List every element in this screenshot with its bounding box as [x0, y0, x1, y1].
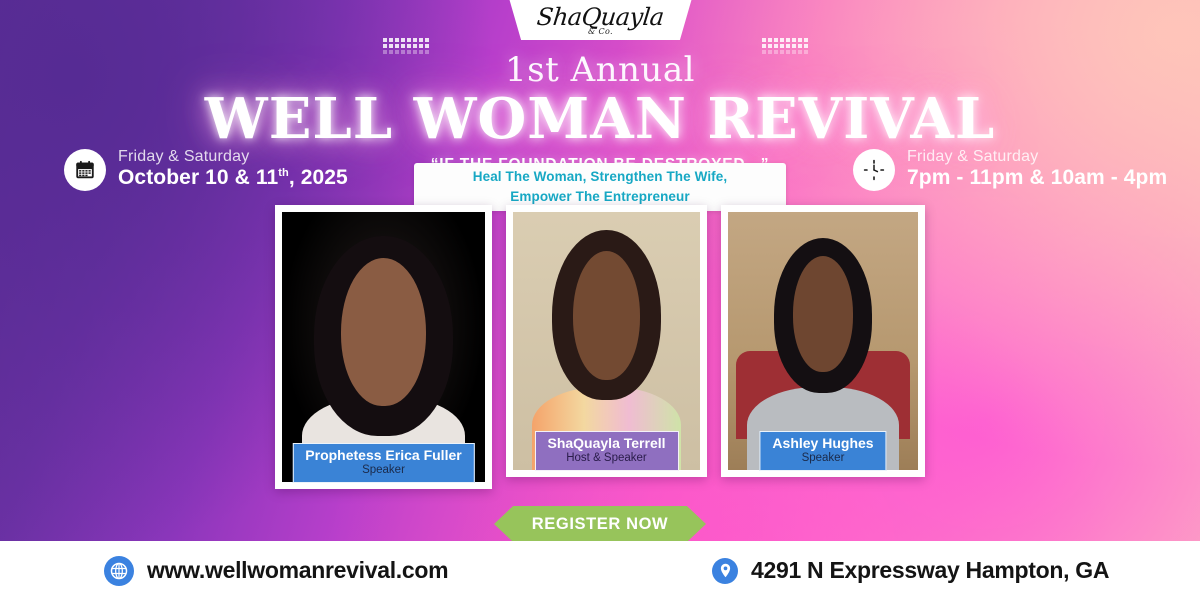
speaker-role: Speaker: [305, 464, 461, 477]
speaker-role: Host & Speaker: [547, 452, 665, 465]
speaker-role: Speaker: [772, 452, 873, 465]
speaker-name: Ashley Hughes: [772, 436, 873, 452]
footer-bar: www.wellwomanrevival.com 4291 N Expressw…: [0, 541, 1200, 600]
speaker-cards: Prophetess Erica Fuller Speaker ShaQuayl…: [0, 205, 1200, 489]
calendar-icon: [64, 149, 106, 191]
speaker-name: ShaQuayla Terrell: [547, 436, 665, 452]
speaker-name-plate: Ashley Hughes Speaker: [759, 431, 886, 471]
event-date-text: Friday & Saturday October 10 & 11th, 202…: [118, 148, 348, 191]
event-date-value: October 10 & 11th, 2025: [118, 166, 348, 191]
address-block[interactable]: 4291 N Expressway Hampton, GA: [712, 557, 1109, 584]
subtitle-line-2: Empower The Entrepreneur: [510, 187, 689, 207]
page-title: WELL WOMAN REVIVAL: [0, 91, 1200, 147]
brand-logo-banner: ShaQuayla & Co.: [496, 0, 705, 40]
register-now-button[interactable]: REGISTER NOW: [494, 506, 706, 542]
clock-icon: [853, 149, 895, 191]
event-date-days: Friday & Saturday: [118, 148, 348, 166]
event-date-suffix: th: [278, 167, 289, 179]
event-date-main: October 10 & 11: [118, 166, 278, 189]
globe-icon: [104, 556, 134, 586]
event-time-block: Friday & Saturday 7pm - 11pm & 10am - 4p…: [853, 148, 1167, 191]
event-time-text: Friday & Saturday 7pm - 11pm & 10am - 4p…: [907, 148, 1167, 191]
speaker-name-plate: ShaQuayla Terrell Host & Speaker: [534, 431, 678, 471]
speaker-name: Prophetess Erica Fuller: [305, 448, 461, 464]
event-date-block: Friday & Saturday October 10 & 11th, 202…: [64, 148, 348, 191]
event-time-value: 7pm - 11pm & 10am - 4pm: [907, 166, 1167, 191]
address-text: 4291 N Expressway Hampton, GA: [751, 557, 1109, 584]
website-link[interactable]: www.wellwomanrevival.com: [104, 556, 448, 586]
brand-logo-name: ShaQuayla: [536, 5, 665, 29]
speaker-card: ShaQuayla Terrell Host & Speaker: [506, 205, 707, 477]
speaker-photo: [282, 212, 485, 482]
map-pin-icon: [712, 558, 738, 584]
event-flyer: ShaQuayla & Co. 1st Annual WELL WOMAN RE…: [0, 0, 1200, 600]
subtitle-line-1: Heal The Woman, Strengthen The Wife,: [473, 167, 728, 187]
portrait-illustration: [282, 212, 485, 482]
website-url: www.wellwomanrevival.com: [147, 557, 448, 584]
speaker-card: Prophetess Erica Fuller Speaker: [275, 205, 492, 489]
event-date-year: , 2025: [289, 166, 348, 189]
register-now-label: REGISTER NOW: [532, 515, 668, 534]
speaker-card: Ashley Hughes Speaker: [721, 205, 925, 477]
speaker-name-plate: Prophetess Erica Fuller Speaker: [292, 443, 474, 483]
event-subtitle-box: Heal The Woman, Strengthen The Wife, Emp…: [414, 163, 786, 211]
event-time-days: Friday & Saturday: [907, 148, 1167, 166]
event-kicker: 1st Annual: [0, 52, 1200, 89]
